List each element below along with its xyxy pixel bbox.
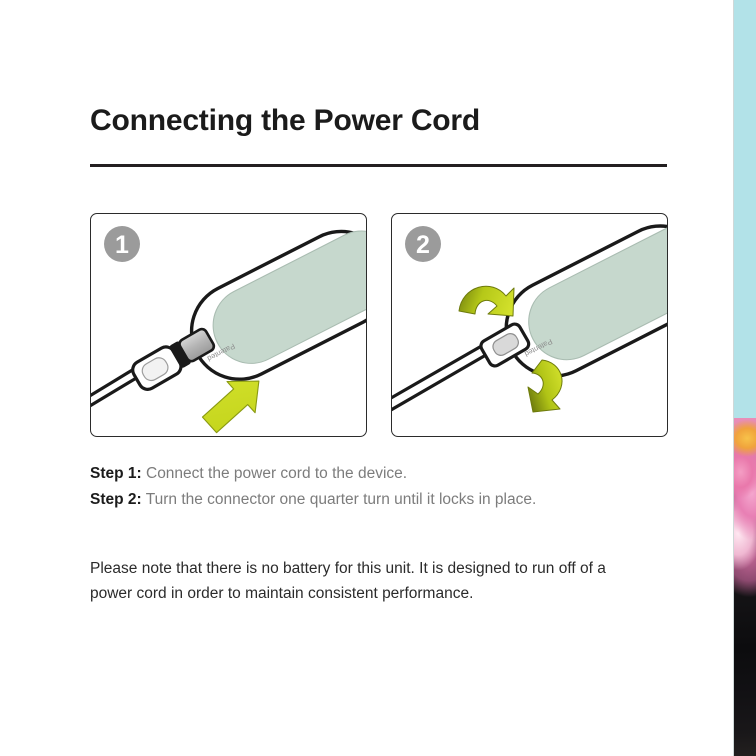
illustration-panel-step-1: Patented 1 [90, 213, 367, 437]
step-badge-number-1: 1 [115, 231, 129, 259]
step-1-text: Connect the power cord to the device. [142, 465, 407, 482]
step-badge-2: 2 [405, 226, 441, 262]
document-page: Connecting the Power Cord Patented [0, 0, 733, 756]
battery-note-paragraph: Please note that there is no battery for… [90, 556, 642, 606]
step-badge-number-2: 2 [416, 231, 430, 259]
illustration-svg-step-2: Patented 2 [392, 214, 667, 436]
illustration-panel-step-2: Patented 2 [391, 213, 668, 437]
title-divider [90, 164, 667, 167]
right-edge-photo-sliver [734, 418, 756, 756]
rotation-arrow-upper [459, 286, 514, 316]
page-title: Connecting the Power Cord [90, 104, 480, 138]
instruction-step-2: Step 2: Turn the connector one quarter t… [90, 491, 536, 509]
instruction-step-1: Step 1: Connect the power cord to the de… [90, 465, 407, 483]
step-2-label: Step 2: [90, 491, 142, 508]
step-1-label: Step 1: [90, 465, 142, 482]
illustration-svg-step-1: Patented 1 [91, 214, 366, 436]
step-2-text: Turn the connector one quarter turn unti… [142, 491, 537, 508]
step-badge-1: 1 [104, 226, 140, 262]
